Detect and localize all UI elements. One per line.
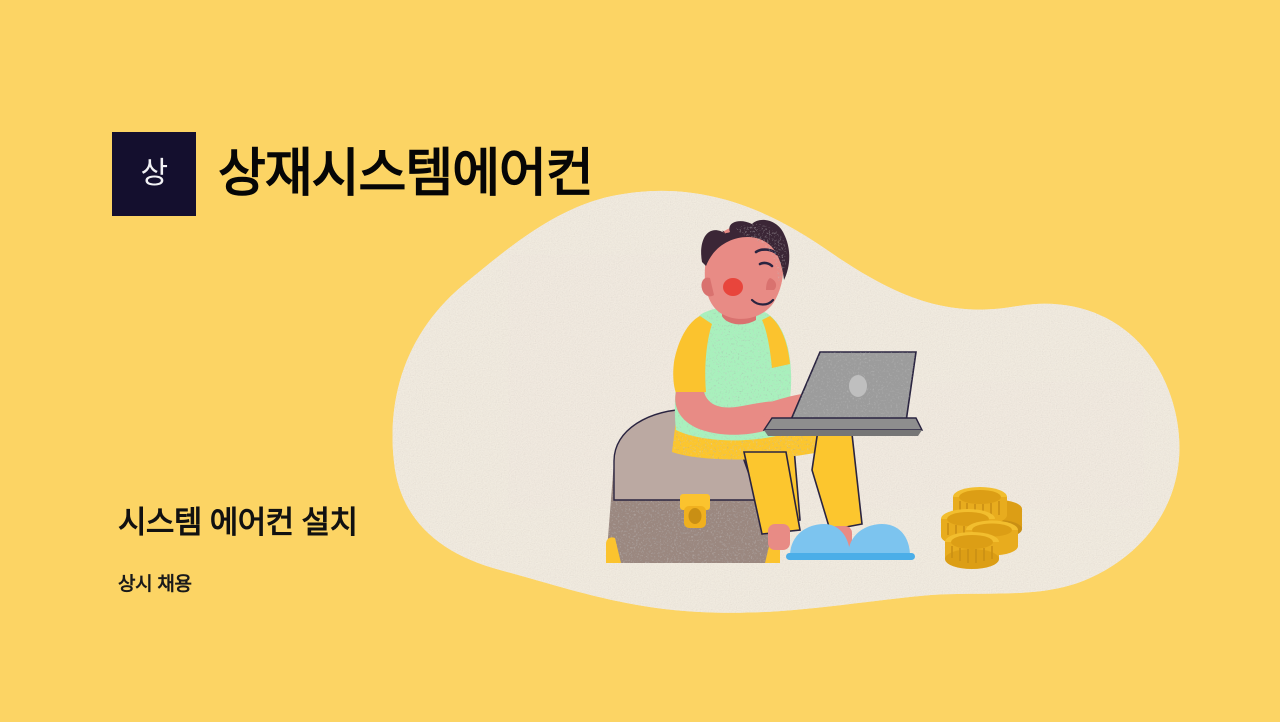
job-recruitment-type: 상시 채용 (118, 573, 357, 598)
illustration-person-working (0, 0, 1280, 722)
briefcase-icon (606, 409, 780, 563)
coin-stack-icon (941, 487, 1022, 569)
background-blob (0, 0, 1280, 722)
company-header: 상 상재시스템에어컨 (112, 132, 593, 216)
company-name: 상재시스템에어컨 (218, 147, 593, 202)
laptop-icon (764, 352, 922, 436)
person-head (701, 220, 789, 319)
slippers-icon (786, 524, 915, 560)
job-info-block: 시스템 에어컨 설치 상시 채용 (118, 503, 357, 598)
person-torso (673, 296, 857, 440)
job-posting-poster: 상 상재시스템에어컨 시스템 에어컨 설치 상시 채용 (0, 0, 1280, 722)
person-legs (672, 411, 862, 552)
company-logo-badge: 상 (112, 132, 196, 216)
company-logo-initial: 상 (140, 159, 167, 189)
job-title: 시스템 에어컨 설치 (118, 503, 357, 543)
